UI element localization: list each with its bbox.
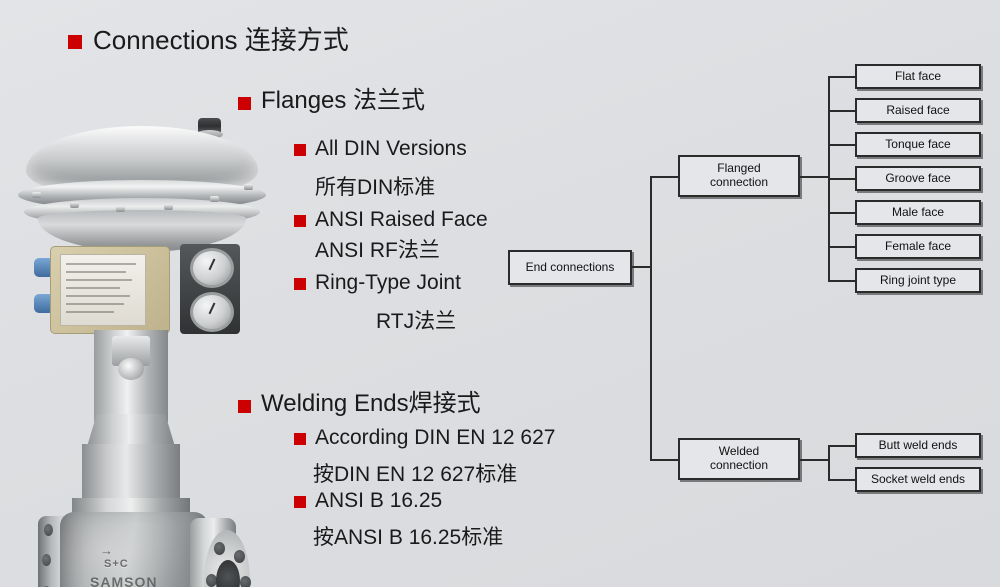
connector-weld xyxy=(828,479,857,481)
tree-node-tonque-face[interactable]: Tonque face xyxy=(855,132,981,157)
end-connections-tree: End connections Flanged connection Flat … xyxy=(0,0,1000,587)
tree-node-flat-face-label: Flat face xyxy=(895,70,941,84)
tree-node-socket-weld-ends-label: Socket weld ends xyxy=(871,473,965,487)
connector-face xyxy=(828,144,857,146)
tree-node-male-face-label: Male face xyxy=(892,206,944,220)
connector-face xyxy=(828,178,857,180)
connector-face xyxy=(828,76,857,78)
connector-root xyxy=(632,266,652,268)
connector-face xyxy=(828,110,857,112)
slide-canvas: → S+C SAMSON 2"CL300 A351 CF8M 7085 Conn… xyxy=(0,0,1000,587)
tree-node-raised-face-label: Raised face xyxy=(886,104,949,118)
tree-node-socket-weld-ends[interactable]: Socket weld ends xyxy=(855,467,981,492)
connector-face xyxy=(828,280,857,282)
tree-node-tonque-face-label: Tonque face xyxy=(885,138,950,152)
connector-face xyxy=(828,212,857,214)
tree-node-butt-weld-ends[interactable]: Butt weld ends xyxy=(855,433,981,458)
connector-face xyxy=(828,246,857,248)
tree-node-end-connections-label: End connections xyxy=(526,261,615,275)
tree-node-butt-weld-ends-label: Butt weld ends xyxy=(879,439,958,453)
connector-flanged xyxy=(650,176,680,178)
tree-node-welded-connection-label: Welded connection xyxy=(710,445,768,473)
tree-node-flanged-connection[interactable]: Flanged connection xyxy=(678,155,800,197)
tree-node-male-face[interactable]: Male face xyxy=(855,200,981,225)
connector-welded xyxy=(650,459,680,461)
tree-node-raised-face[interactable]: Raised face xyxy=(855,98,981,123)
connector-weld xyxy=(828,445,857,447)
tree-node-flanged-connection-label: Flanged connection xyxy=(710,162,768,190)
connector-flanged-out xyxy=(800,176,830,178)
tree-node-groove-face[interactable]: Groove face xyxy=(855,166,981,191)
tree-node-welded-connection[interactable]: Welded connection xyxy=(678,438,800,480)
connector-weld-trunk xyxy=(828,445,830,481)
tree-node-ring-joint-type-label: Ring joint type xyxy=(880,274,956,288)
tree-node-flat-face[interactable]: Flat face xyxy=(855,64,981,89)
tree-node-end-connections[interactable]: End connections xyxy=(508,250,632,285)
tree-node-female-face[interactable]: Female face xyxy=(855,234,981,259)
tree-node-female-face-label: Female face xyxy=(885,240,951,254)
tree-node-groove-face-label: Groove face xyxy=(885,172,950,186)
connector-trunk xyxy=(650,176,652,461)
connector-welded-out xyxy=(800,459,830,461)
tree-node-ring-joint-type[interactable]: Ring joint type xyxy=(855,268,981,293)
